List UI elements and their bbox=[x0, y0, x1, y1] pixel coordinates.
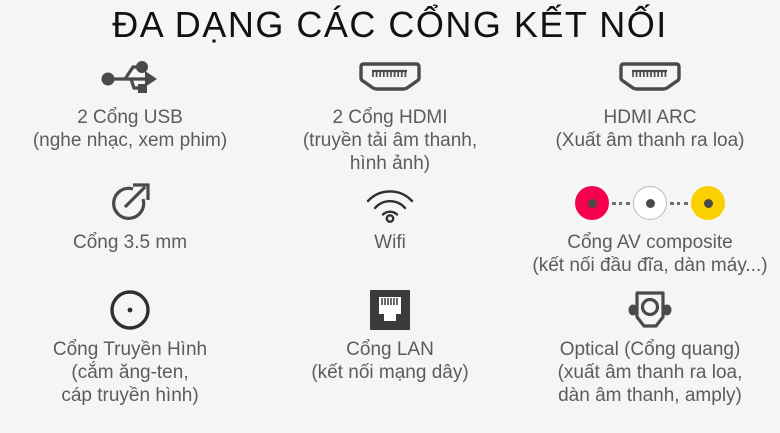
av-composite-icon bbox=[520, 177, 780, 229]
hdmi-arc-port-icon bbox=[520, 52, 780, 104]
port-item-antenna: Cổng Truyền Hình (cắm ăng-ten, cáp truyề… bbox=[0, 284, 260, 407]
port-caption: 2 Cổng USB (nghe nhạc, xem phim) bbox=[0, 106, 260, 152]
ports-grid: 2 Cổng USB (nghe nhạc, xem phim) 2 Cổng … bbox=[0, 52, 780, 433]
lan-rj45-icon bbox=[260, 284, 520, 336]
caption-line-1: Cổng AV composite bbox=[520, 231, 780, 254]
rca-red-icon bbox=[575, 186, 609, 220]
rca-dash-2 bbox=[670, 202, 688, 205]
caption-line-1: Cổng 3.5 mm bbox=[0, 231, 260, 254]
port-caption: 2 Cổng HDMI (truyền tải âm thanh, hình ả… bbox=[260, 106, 520, 175]
rca-dash-1 bbox=[612, 202, 630, 205]
caption-line-3: cáp truyền hình) bbox=[0, 384, 260, 407]
caption-line-1: Optical (Cổng quang) bbox=[520, 338, 780, 361]
port-item-lan: Cổng LAN (kết nối mạng dây) bbox=[260, 284, 520, 384]
port-caption: Cổng LAN (kết nối mạng dây) bbox=[260, 338, 520, 384]
caption-line-1: Cổng Truyền Hình bbox=[0, 338, 260, 361]
port-item-optical: Optical (Cổng quang) (xuất âm thanh ra l… bbox=[520, 284, 780, 407]
wifi-icon bbox=[260, 177, 520, 229]
caption-line-1: 2 Cổng USB bbox=[0, 106, 260, 129]
rca-white-icon bbox=[633, 186, 667, 220]
port-item-hdmi: 2 Cổng HDMI (truyền tải âm thanh, hình ả… bbox=[260, 52, 520, 175]
port-caption: Cổng 3.5 mm bbox=[0, 231, 260, 254]
infographic-page: ĐA DẠNG CÁC CỔNG KẾT NỐI bbox=[0, 0, 780, 433]
optical-toslink-icon bbox=[520, 284, 780, 336]
hdmi-port-icon bbox=[260, 52, 520, 104]
caption-line-3: dàn âm thanh, amply) bbox=[520, 384, 780, 407]
coaxial-antenna-icon bbox=[0, 284, 260, 336]
port-caption: HDMI ARC (Xuất âm thanh ra loa) bbox=[520, 106, 780, 152]
port-caption: Optical (Cổng quang) (xuất âm thanh ra l… bbox=[520, 338, 780, 407]
caption-line-1: Wifi bbox=[260, 231, 520, 254]
port-item-av-composite: Cổng AV composite (kết nối đầu đĩa, dàn … bbox=[520, 177, 780, 277]
caption-line-1: Cổng LAN bbox=[260, 338, 520, 361]
caption-line-2: (nghe nhạc, xem phim) bbox=[0, 129, 260, 152]
caption-line-1: HDMI ARC bbox=[520, 106, 780, 129]
page-title: ĐA DẠNG CÁC CỔNG KẾT NỐI bbox=[0, 4, 780, 46]
headphone-jack-icon bbox=[0, 177, 260, 229]
port-item-hdmi-arc: HDMI ARC (Xuất âm thanh ra loa) bbox=[520, 52, 780, 152]
caption-line-2: (kết nối đầu đĩa, dàn máy...) bbox=[520, 254, 780, 277]
caption-line-2: (xuất âm thanh ra loa, bbox=[520, 361, 780, 384]
caption-line-2: (truyền tải âm thanh, bbox=[260, 129, 520, 152]
rca-yellow-icon bbox=[691, 186, 725, 220]
port-caption: Wifi bbox=[260, 231, 520, 254]
port-caption: Cổng AV composite (kết nối đầu đĩa, dàn … bbox=[520, 231, 780, 277]
port-caption: Cổng Truyền Hình (cắm ăng-ten, cáp truyề… bbox=[0, 338, 260, 407]
rca-connector-row bbox=[575, 186, 725, 220]
caption-line-2: (cắm ăng-ten, bbox=[0, 361, 260, 384]
port-item-jack35: Cổng 3.5 mm bbox=[0, 177, 260, 254]
port-item-usb: 2 Cổng USB (nghe nhạc, xem phim) bbox=[0, 52, 260, 152]
caption-line-1: 2 Cổng HDMI bbox=[260, 106, 520, 129]
port-item-wifi: Wifi bbox=[260, 177, 520, 254]
caption-line-3: hình ảnh) bbox=[260, 152, 520, 175]
usb-icon bbox=[0, 52, 260, 104]
caption-line-2: (Xuất âm thanh ra loa) bbox=[520, 129, 780, 152]
caption-line-2: (kết nối mạng dây) bbox=[260, 361, 520, 384]
